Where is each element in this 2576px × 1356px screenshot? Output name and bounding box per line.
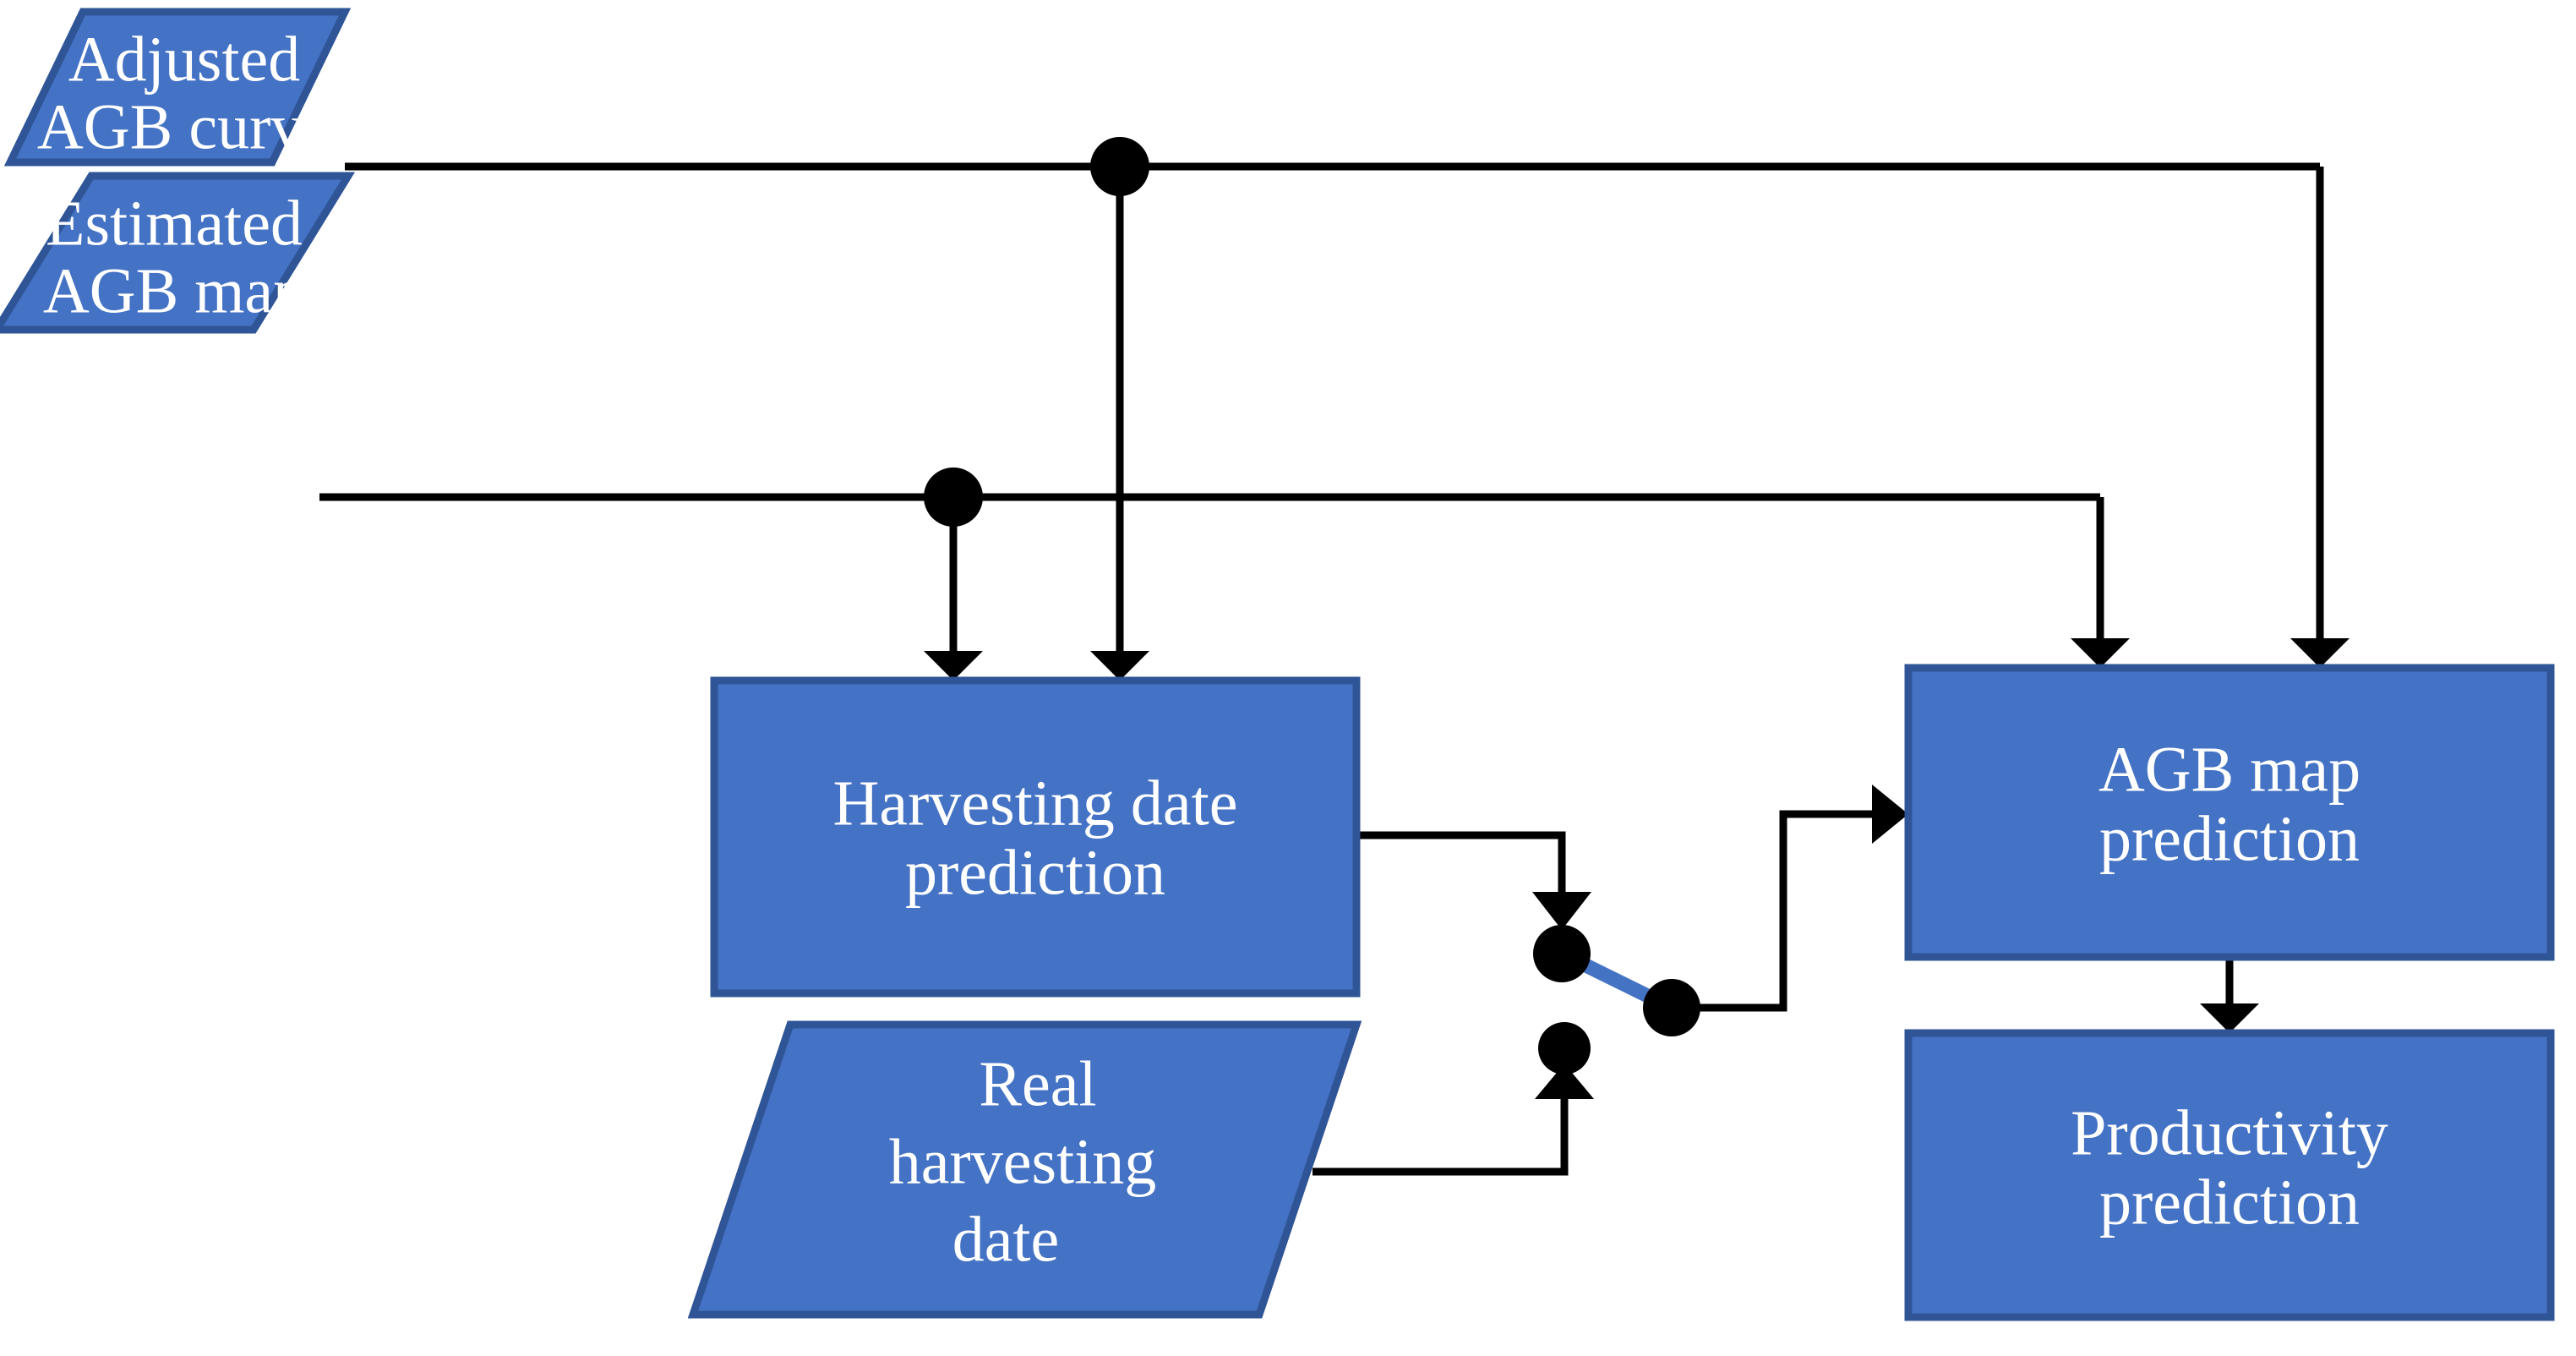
arrowhead-harvesting-to-switch-icon xyxy=(1532,892,1591,930)
harvesting-date-source-switch[interactable] xyxy=(1533,925,1700,1074)
estimated-agb-map-label-line2: AGB map xyxy=(43,255,305,326)
node-real-harvesting-date[interactable]: Real harvesting date xyxy=(693,1025,1356,1315)
switch-terminal-bottom-dot[interactable] xyxy=(1538,1022,1591,1074)
adjusted-agb-curve-label-line2: AGB curve xyxy=(37,91,331,162)
edge-switch-to-agb-map-prediction xyxy=(1672,814,1872,1008)
arrowhead-estimated-to-agbmap-icon xyxy=(2071,638,2130,668)
adjusted-agb-curve-label-line1: Adjusted xyxy=(68,24,300,95)
real-harvesting-date-label-line2: harvesting xyxy=(889,1126,1157,1197)
node-agb-map-prediction[interactable]: AGB map prediction xyxy=(1908,668,2551,957)
node-adjusted-agb-curve[interactable]: Adjusted AGB curve xyxy=(10,12,345,162)
edge-harvesting-date-to-switch-terminal xyxy=(1356,835,1562,896)
flowchart-canvas: Adjusted AGB curve Estimated AGB map Har… xyxy=(0,0,2576,1356)
node-estimated-agb-map[interactable]: Estimated AGB map xyxy=(0,176,348,330)
productivity-prediction-label-line1: Productivity xyxy=(2071,1097,2388,1168)
arrowhead-estimated-to-harvesting-icon xyxy=(924,651,983,681)
arrowhead-switch-to-agbmap-icon xyxy=(1872,785,1908,844)
junction-adjusted-agb-curve-dot xyxy=(1090,137,1149,196)
agb-map-prediction-label-line2: prediction xyxy=(2099,803,2360,874)
productivity-prediction-label-line2: prediction xyxy=(2099,1167,2360,1238)
agb-map-prediction-label-line1: AGB map xyxy=(2098,734,2360,805)
junction-layer xyxy=(924,137,1149,527)
real-harvesting-date-label-line1: Real xyxy=(979,1048,1096,1119)
real-harvesting-date-label-line3: date xyxy=(952,1204,1060,1275)
switch-pole-dot[interactable] xyxy=(1643,979,1700,1036)
junction-estimated-agb-map-dot xyxy=(924,467,983,527)
harvesting-date-prediction-label-line2: prediction xyxy=(905,837,1165,908)
arrowhead-adjusted-to-harvesting-icon xyxy=(1090,651,1149,681)
arrowhead-agbmap-to-productivity-icon xyxy=(2200,1003,2259,1033)
harvesting-date-prediction-label-line1: Harvesting date xyxy=(832,768,1237,839)
estimated-agb-map-label-line1: Estimated xyxy=(46,188,303,259)
arrowhead-adjusted-to-agbmap-icon xyxy=(2290,638,2350,668)
node-harvesting-date-prediction[interactable]: Harvesting date prediction xyxy=(714,681,1356,993)
flowchart-svg: Adjusted AGB curve Estimated AGB map Har… xyxy=(0,0,2576,1356)
switch-terminal-top-dot[interactable] xyxy=(1533,925,1591,982)
edge-real-harvesting-date-to-switch-terminal xyxy=(1313,1099,1564,1172)
node-productivity-prediction[interactable]: Productivity prediction xyxy=(1908,1033,2551,1317)
